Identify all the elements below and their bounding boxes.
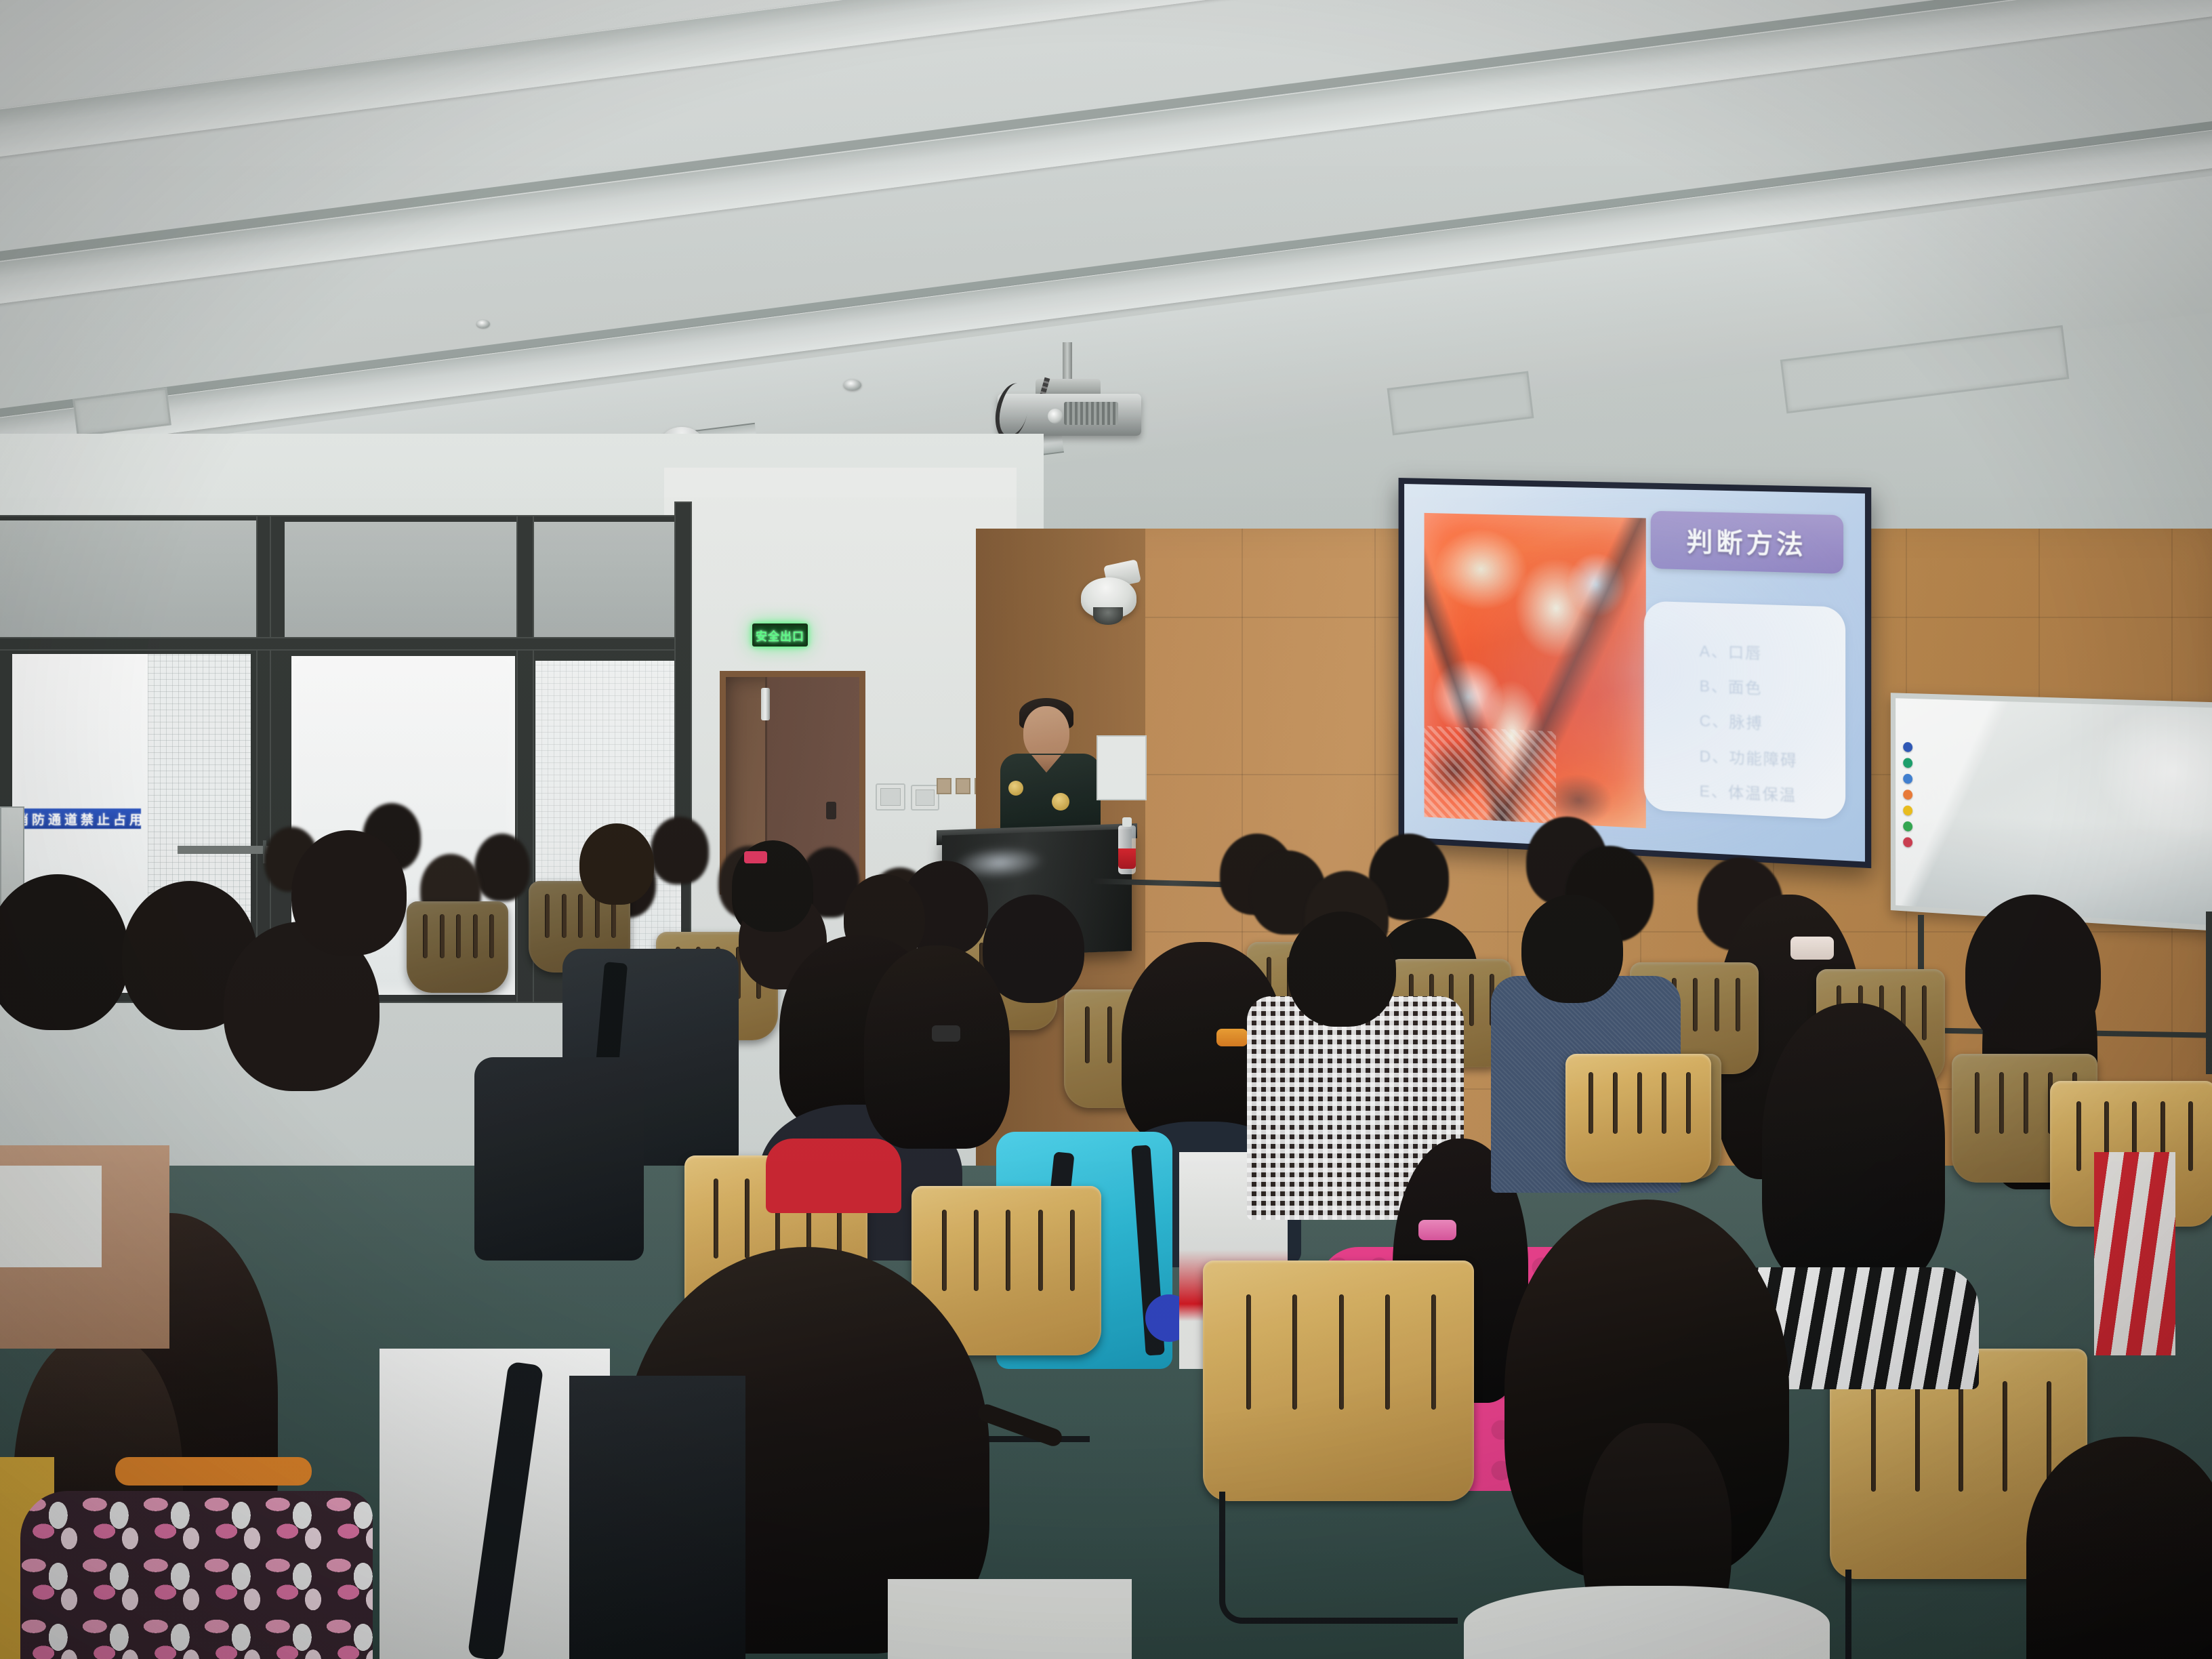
slide-list-item: C、脉搏 [1700,708,1846,737]
whiteboard-stand-leg [2206,912,2212,1074]
black-backpack[interactable] [474,1057,644,1261]
slide-list-item: A、口唇 [1700,638,1846,666]
hair-tie [1216,1029,1248,1046]
foreground-person-ponytail [1464,1200,1830,1659]
audience-person [651,817,709,884]
hair-clip [932,1025,960,1042]
water-bottle[interactable] [1118,825,1136,874]
magnet-dot[interactable] [1903,805,1912,815]
magnet-dot[interactable] [1903,758,1912,768]
light-switch-panel[interactable] [876,783,905,811]
door-lock[interactable] [826,802,836,819]
projector-mount-pole [1063,342,1072,384]
red-seat-cushion [766,1139,901,1213]
audience-person [1288,912,1396,1027]
audience-person [732,840,813,932]
projector-vent-grill [1064,402,1118,425]
chair[interactable] [1565,1054,1711,1183]
foreground-person-shirt [888,1579,1132,1659]
projection-screen: 判断方法 A、口唇 B、面色 C、脉搏 D、功能障碍 E、体温保温 [1399,478,1872,868]
emergency-exit-sign: 安全出口 [752,623,808,647]
door-handle[interactable] [761,688,770,720]
lecture-hall-photo: 消防通道禁止占用 安全出口 判断方法 [0,0,2212,1659]
slide-photo-image [1425,512,1646,828]
magnet-dot[interactable] [1903,742,1912,752]
window-transom [0,637,691,651]
slide-title-box: 判断方法 [1651,511,1843,574]
hair-scrunchie [1418,1220,1456,1240]
slide-title-text: 判断方法 [1686,521,1807,562]
ceiling-spotlight [476,320,490,328]
audience-person [579,823,654,905]
chair[interactable] [1203,1261,1474,1501]
window-banner-text: 消防通道禁止占用 [20,810,141,828]
slide-list-item: E、体温保温 [1700,778,1846,808]
magnet-dot[interactable] [1903,774,1912,784]
window-blind [285,522,678,644]
foreground-floral-top [20,1491,373,1659]
black-backpack[interactable] [569,1376,745,1659]
presenter-chest-badge [1052,793,1069,811]
ceiling-spotlight [844,380,861,390]
projector-lens [1048,409,1063,424]
magnet-dot[interactable] [1903,837,1912,847]
hair-bow-clip [1790,937,1834,960]
projected-slide: 判断方法 A、口唇 B、面色 C、脉搏 D、功能障碍 E、体温保温 [1404,484,1865,861]
wall-notice-card [1097,735,1147,800]
magnet-dot[interactable] [1903,790,1912,800]
presenter-head [1023,706,1069,760]
ptz-camera-lens [1093,607,1123,625]
foreground-person-sleeve [0,1166,102,1267]
whiteboard-magnet-strip[interactable] [1903,742,1912,848]
foreground-collar [115,1457,312,1486]
wall-ptz-camera [1074,562,1142,630]
slide-bullet-list: A、口唇 B、面色 C、脉搏 D、功能障碍 E、体温保温 [1643,601,1845,821]
chair[interactable] [407,901,508,993]
red-stripe-shirt [2094,1152,2175,1355]
window-warning-banner: 消防通道禁止占用 [20,808,141,829]
exit-sign-label: 安全出口 [756,627,804,644]
window-blind [0,520,264,642]
audience-person [1521,895,1623,1003]
hair-clip [744,851,767,863]
slide-list-item: D、功能障碍 [1700,743,1846,773]
presenter-shoulder-badge [1008,781,1023,796]
audience-person [291,830,407,956]
magnet-dot[interactable] [1903,821,1912,832]
light-switch-panel[interactable] [911,785,939,811]
foreground-person-head [2026,1437,2212,1659]
audience-person-body [2006,1003,2203,1179]
slide-list-item: B、面色 [1700,673,1846,702]
